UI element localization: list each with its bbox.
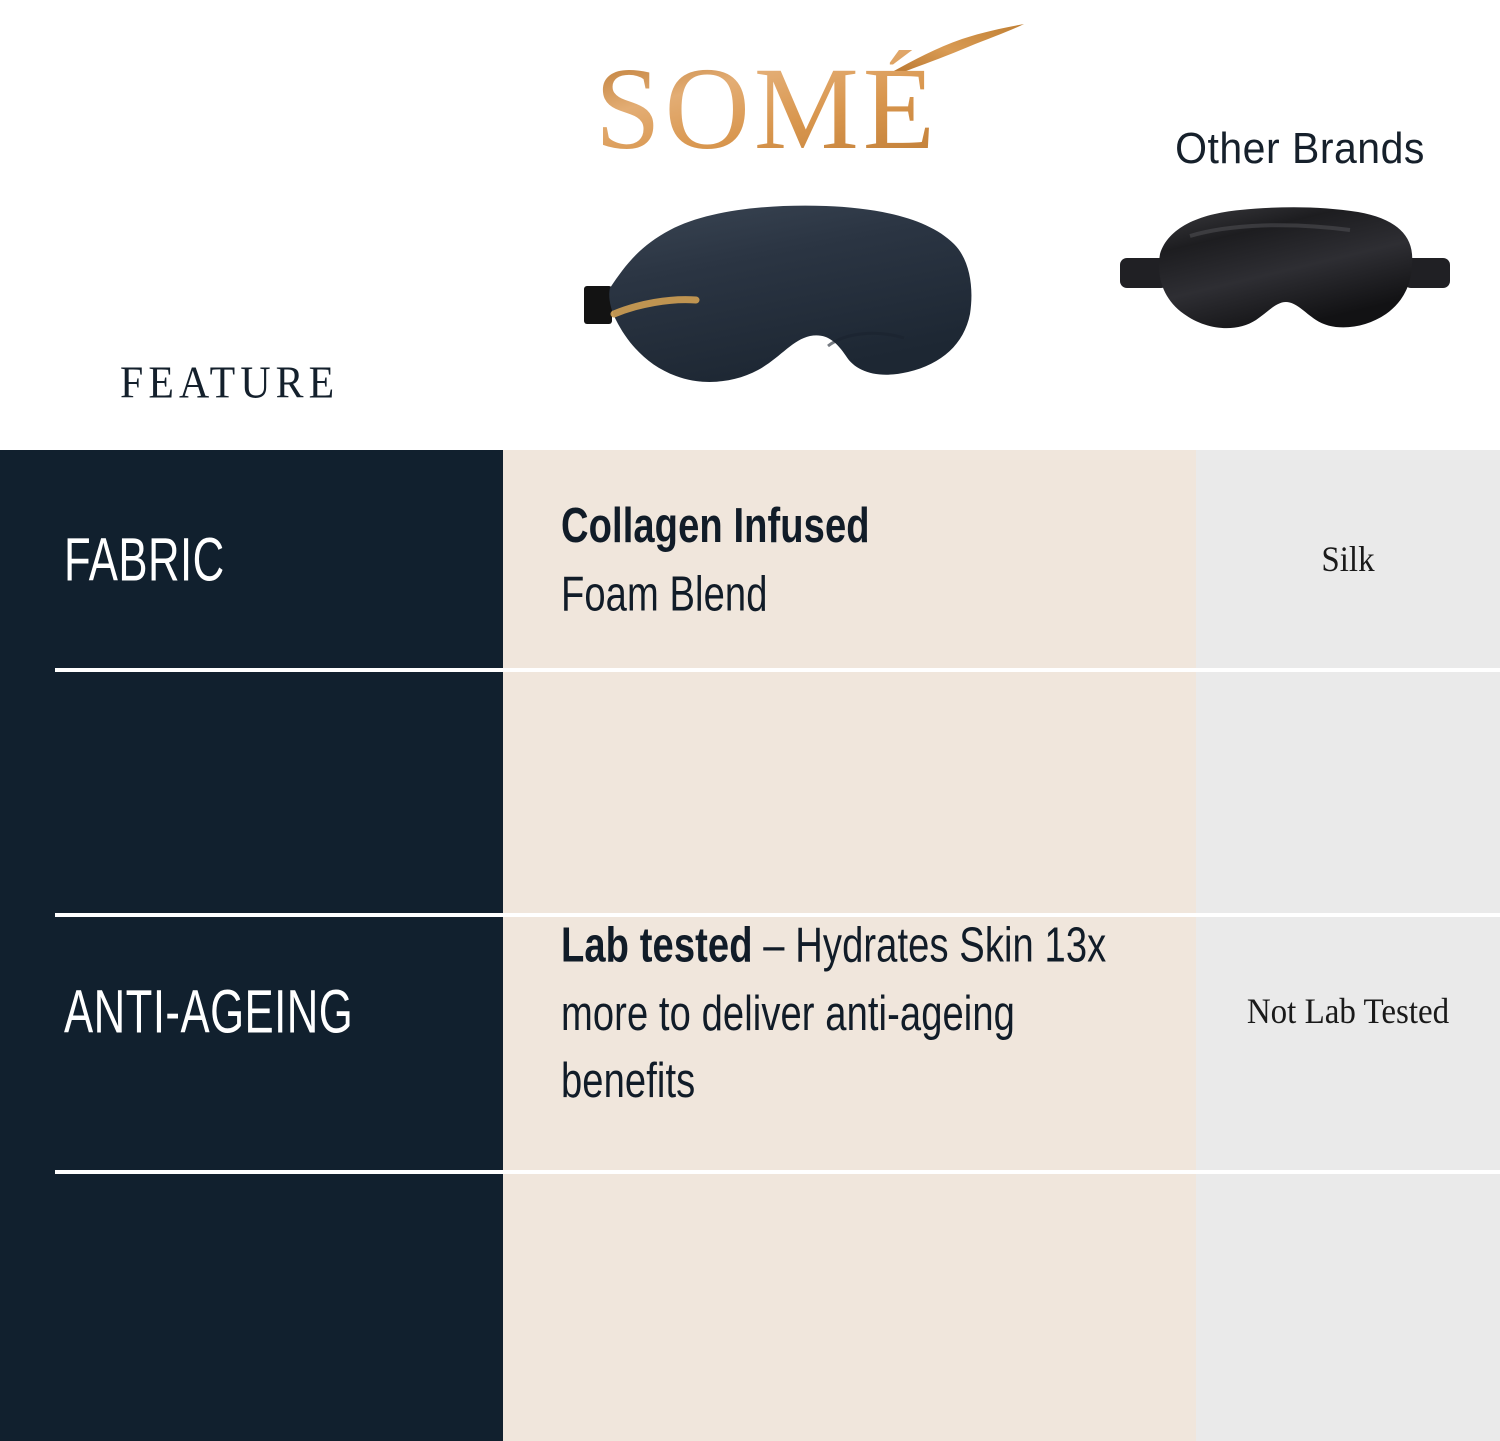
row-divider <box>55 913 503 917</box>
row-divider <box>55 668 503 672</box>
brand-wordmark: SOMÉ <box>595 50 995 168</box>
some-product-image <box>578 196 978 401</box>
feature-cell: FABRIC <box>0 450 503 670</box>
table-row: BEAUTY BENEFITS Reduces Dry Puffy Eyes, … <box>0 915 1500 1172</box>
comparison-infographic: SOMÉ Other Brands <box>0 0 1500 1441</box>
row-divider <box>503 913 1500 917</box>
brand-logo: SOMÉ <box>595 22 1025 172</box>
some-value-bold: Collagen Infused <box>561 498 870 553</box>
other-value: Silk <box>1222 536 1474 584</box>
table-row: FABRIC Collagen Infused Foam Blend Silk <box>0 450 1500 670</box>
some-value-regular: Foam Blend <box>561 566 768 621</box>
row-divider <box>503 1170 1500 1174</box>
comparison-table: FABRIC Collagen Infused Foam Blend Silk … <box>0 450 1500 1441</box>
some-value: Collagen Infused Foam Blend <box>561 492 870 628</box>
table-row: ANTI-AGEING Lab tested – Hydrates Skin 1… <box>0 670 1500 915</box>
row-divider <box>55 1170 503 1174</box>
competitor-product-image <box>1120 196 1450 346</box>
other-brands-label: Other Brands <box>1135 124 1465 174</box>
some-cell: Collagen Infused Foam Blend <box>503 450 1196 670</box>
feature-name: FABRIC <box>64 526 225 594</box>
row-divider <box>503 668 1500 672</box>
table-row: BLACK OUT LIGHT Adjustable Nose Wire to … <box>0 1172 1500 1441</box>
page-title: FEATURE <box>120 355 339 409</box>
header: SOMÉ Other Brands <box>0 0 1500 450</box>
other-cell: Silk <box>1196 450 1500 670</box>
